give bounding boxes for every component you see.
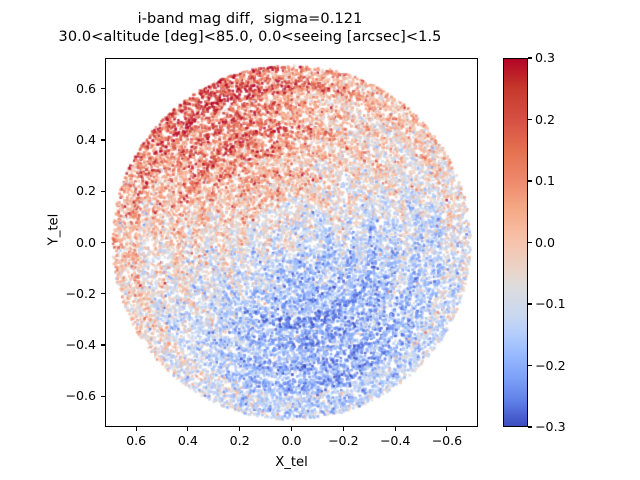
colorbar-tick (528, 303, 532, 304)
plot-area (105, 58, 478, 427)
colorbar-tick-label: 0.3 (535, 50, 555, 65)
x-tick (395, 427, 396, 431)
y-tick-label: −0.4 (36, 337, 96, 352)
x-axis-label: X_tel (105, 455, 478, 470)
scatter-points (106, 59, 477, 426)
y-axis-label: Y_tel (47, 170, 62, 290)
colorbar-tick (528, 242, 532, 243)
x-tick (136, 427, 137, 431)
x-tick (343, 427, 344, 431)
x-tick (187, 427, 188, 431)
colorbar-tick (528, 365, 532, 366)
colorbar-tick-label: 0.2 (535, 112, 555, 127)
x-tick (239, 427, 240, 431)
chart-title: i-band mag diff, sigma=0.121 (0, 11, 500, 27)
colorbar-tick (528, 57, 532, 58)
colorbar (503, 58, 528, 427)
x-tick (291, 427, 292, 431)
y-tick (101, 242, 105, 243)
y-tick (101, 88, 105, 89)
chart-subtitle: 30.0<altitude [deg]<85.0, 0.0<seeing [ar… (0, 29, 500, 45)
y-tick-label: 0.4 (36, 132, 96, 147)
colorbar-tick-label: −0.3 (535, 419, 566, 434)
y-tick-label: 0.6 (36, 81, 96, 96)
y-tick (101, 139, 105, 140)
colorbar-tick-label: −0.2 (535, 358, 566, 373)
colorbar-tick-label: 0.1 (535, 173, 555, 188)
x-tick (446, 427, 447, 431)
y-tick-label: 0.2 (36, 183, 96, 198)
y-tick-label: −0.2 (36, 286, 96, 301)
colorbar-tick-label: 0.0 (535, 235, 555, 250)
colorbar-tick (528, 426, 532, 427)
colorbar-tick (528, 119, 532, 120)
y-tick-label: −0.6 (36, 388, 96, 403)
y-tick (101, 396, 105, 397)
x-tick-label: −0.6 (417, 433, 477, 448)
y-tick (101, 293, 105, 294)
y-tick (101, 344, 105, 345)
y-tick (101, 191, 105, 192)
colorbar-tick (528, 180, 532, 181)
colorbar-tick-label: −0.1 (535, 296, 566, 311)
y-tick-label: 0.0 (36, 235, 96, 250)
figure: i-band mag diff, sigma=0.121 30.0<altitu… (0, 0, 640, 480)
